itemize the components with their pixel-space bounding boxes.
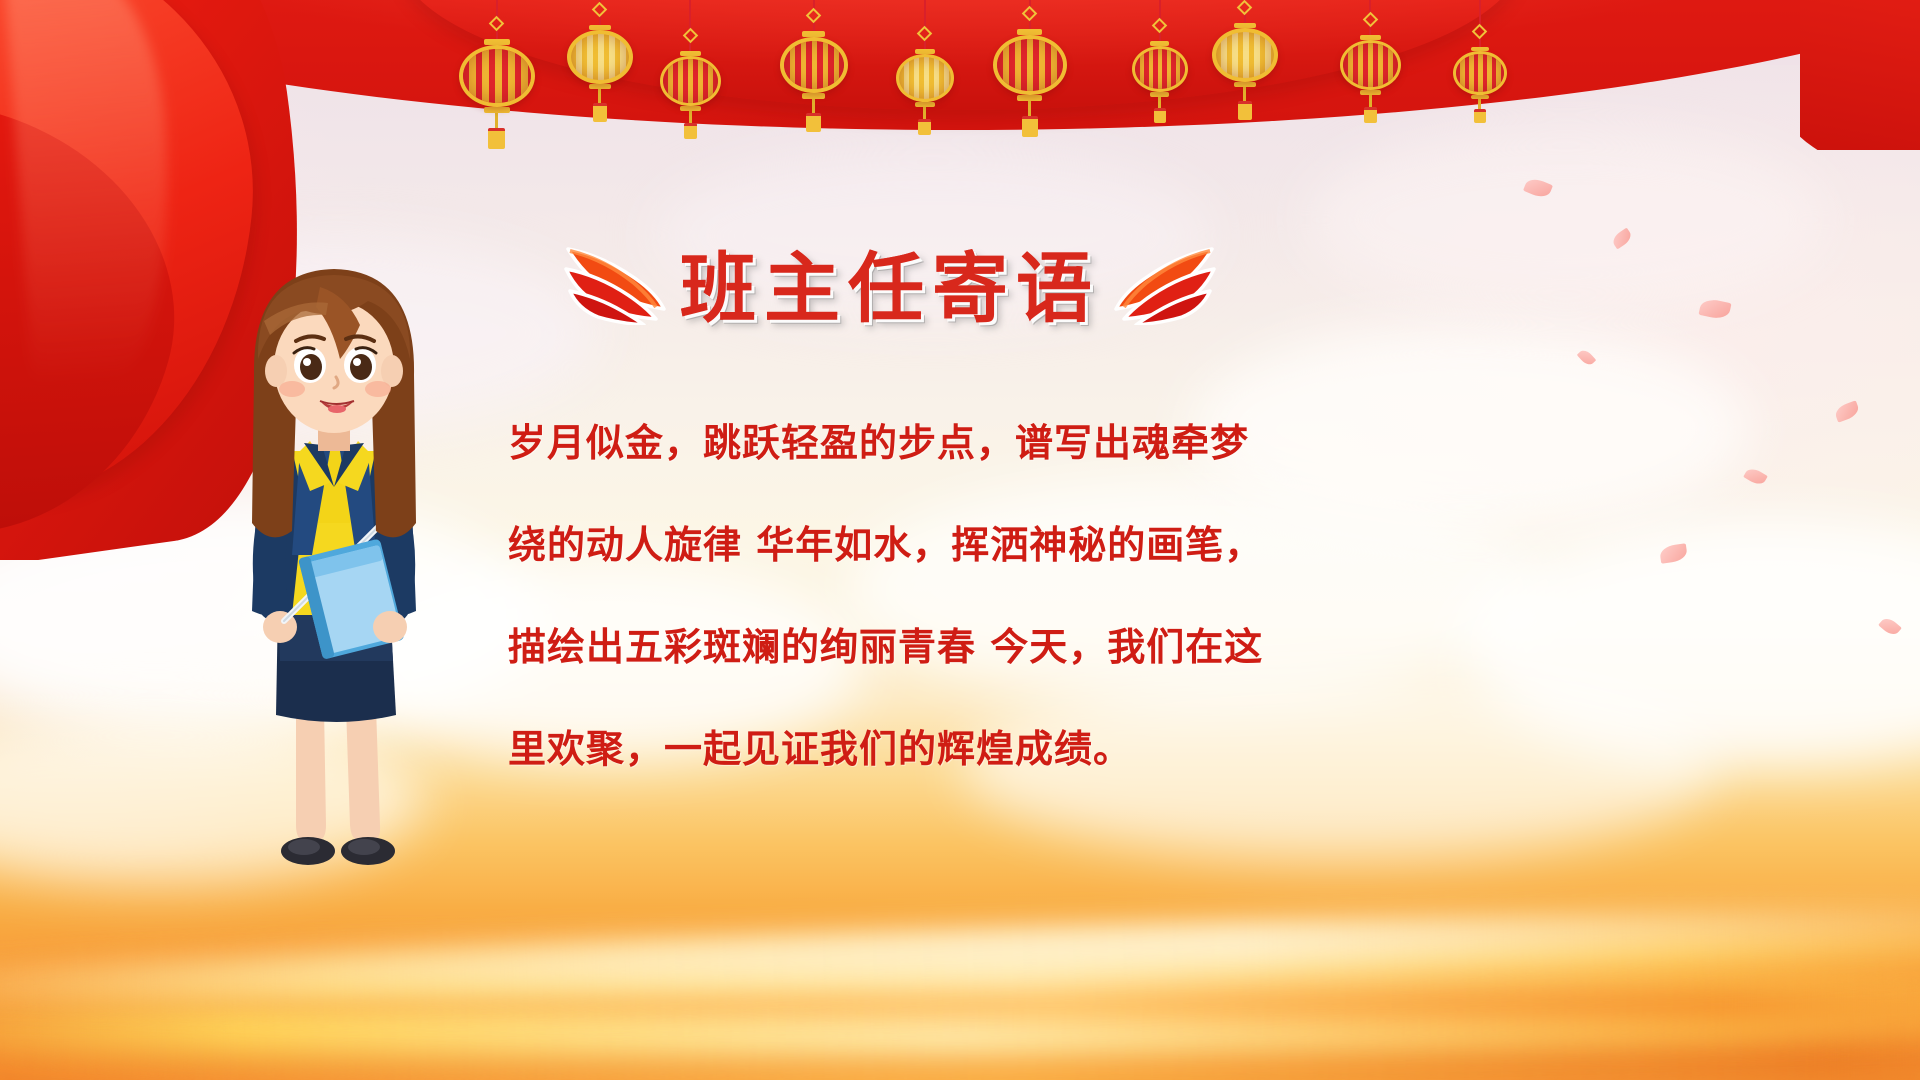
message-line: 绕的动人旋律 华年如水，挥洒神秘的画笔， bbox=[508, 494, 1348, 596]
lantern-knot bbox=[682, 28, 698, 44]
lantern-tassel-cord bbox=[1028, 101, 1031, 116]
lantern-icon bbox=[780, 0, 848, 132]
lantern-icon bbox=[1132, 0, 1188, 123]
wing-ornament-right-icon bbox=[1110, 239, 1220, 325]
lantern-knot bbox=[1362, 12, 1378, 28]
lantern-tassel-cord bbox=[495, 113, 498, 128]
lantern-body bbox=[1453, 51, 1507, 95]
page-title: 班主任寄语 bbox=[676, 227, 1104, 337]
lantern-tassel-cord bbox=[1243, 87, 1246, 101]
lantern-tassel bbox=[1474, 109, 1486, 123]
lantern-tassel bbox=[488, 128, 505, 149]
lantern-knot bbox=[1237, 0, 1253, 15]
teacher-illustration bbox=[200, 255, 470, 885]
message-line: 描绘出五彩斑斓的绚丽青春 今天，我们在这 bbox=[508, 596, 1348, 698]
title-block: 班主任寄语 bbox=[500, 222, 1280, 342]
lantern-knot bbox=[1022, 6, 1038, 22]
lantern-tassel-cord bbox=[598, 89, 601, 103]
lantern-body bbox=[1340, 40, 1401, 90]
lantern-knot bbox=[806, 8, 822, 24]
lantern-body bbox=[1212, 28, 1278, 82]
lantern-tassel bbox=[1238, 101, 1252, 120]
ribbon-fold bbox=[1800, 0, 1920, 150]
lantern-knot bbox=[489, 16, 505, 32]
lantern-tassel bbox=[684, 123, 697, 139]
lantern-cord bbox=[689, 0, 691, 30]
lantern-knot bbox=[1152, 18, 1168, 34]
lantern-tassel bbox=[806, 113, 821, 132]
lantern-tassel bbox=[1154, 108, 1166, 123]
lantern-icon bbox=[1453, 0, 1507, 123]
wing-ornament-left-icon bbox=[560, 239, 670, 325]
lantern-cord bbox=[924, 0, 926, 28]
lantern-icon bbox=[459, 0, 535, 149]
lantern-tassel bbox=[1022, 116, 1038, 137]
lantern-icon bbox=[567, 0, 633, 122]
lantern-body bbox=[660, 56, 721, 106]
lantern-body bbox=[993, 35, 1066, 95]
lantern-knot bbox=[592, 2, 608, 18]
lantern-tassel-cord bbox=[923, 107, 926, 119]
lantern-body bbox=[459, 45, 535, 107]
lantern-body bbox=[567, 30, 633, 84]
message-line: 里欢聚，一起见证我们的辉煌成绩。 bbox=[508, 698, 1348, 800]
slide-canvas: 班主任寄语 岁月似金，跳跃轻盈的步点，谱写出魂牵梦 绕的动人旋律 华年如水，挥洒… bbox=[0, 0, 1920, 1080]
lantern-tassel-cord bbox=[1158, 97, 1161, 108]
lantern-icon bbox=[993, 0, 1066, 137]
lantern-tassel-cord bbox=[1369, 95, 1372, 107]
lantern-knot bbox=[917, 26, 933, 42]
lantern-tassel-cord bbox=[812, 99, 815, 113]
teacher-character bbox=[200, 255, 470, 885]
lantern-knot bbox=[1472, 24, 1488, 40]
lantern-icon bbox=[660, 0, 721, 139]
lantern-tassel-cord bbox=[689, 111, 692, 123]
lantern-icon bbox=[1340, 0, 1401, 123]
lantern-cord bbox=[1479, 0, 1481, 26]
lantern-body bbox=[896, 54, 955, 102]
message-line: 岁月似金，跳跃轻盈的步点，谱写出魂牵梦 bbox=[508, 392, 1348, 494]
lantern-tassel bbox=[593, 103, 607, 122]
lantern-icon bbox=[1212, 0, 1278, 120]
lantern-tassel bbox=[1364, 107, 1377, 123]
message-body: 岁月似金，跳跃轻盈的步点，谱写出魂牵梦 绕的动人旋律 华年如水，挥洒神秘的画笔，… bbox=[508, 392, 1348, 800]
lantern-icon bbox=[896, 0, 955, 135]
lantern-tassel-cord bbox=[1478, 99, 1481, 109]
right-red-ribbon bbox=[1800, 0, 1920, 150]
lantern-body bbox=[780, 37, 848, 93]
lantern-tassel bbox=[918, 119, 931, 135]
lantern-body bbox=[1132, 46, 1188, 92]
